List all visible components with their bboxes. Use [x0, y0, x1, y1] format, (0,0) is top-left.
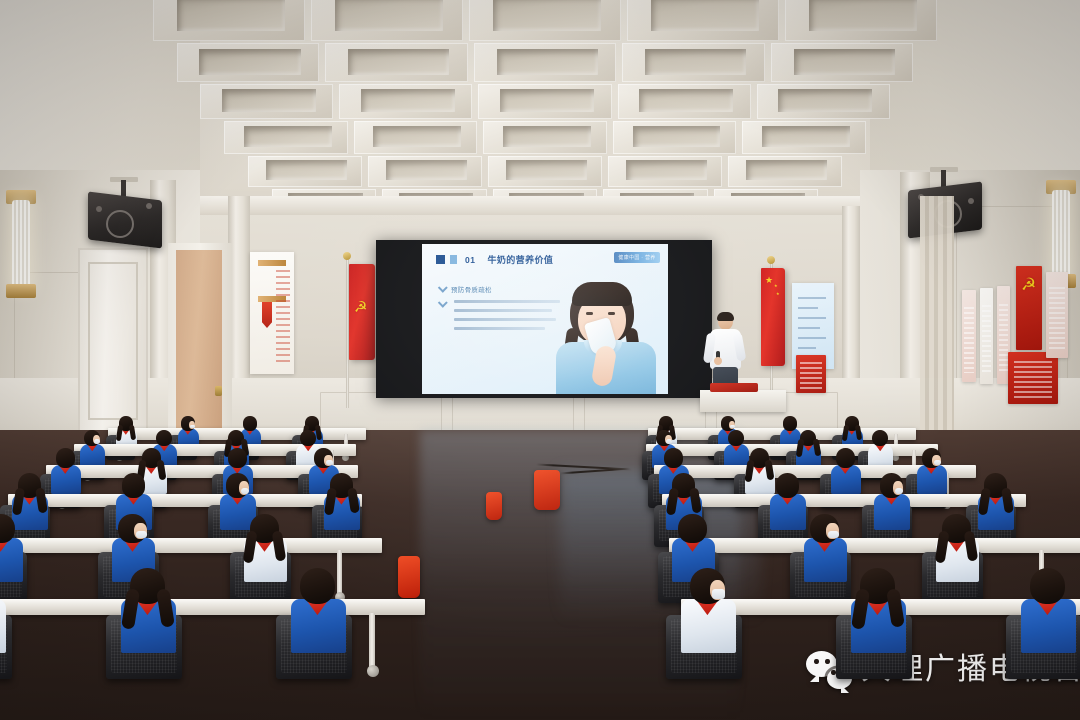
ceiling-coffer — [771, 43, 914, 82]
student — [323, 473, 365, 528]
student-desk — [0, 538, 382, 553]
ceiling-coffer — [622, 43, 765, 82]
ceiling-coffer — [728, 156, 842, 187]
speaker-left — [88, 186, 162, 244]
ceiling-coffer — [478, 84, 611, 119]
face-mask — [895, 488, 904, 494]
student-head — [664, 448, 683, 468]
flagpole-finial-left — [343, 252, 351, 260]
honor-banner-left — [250, 252, 294, 374]
face-mask — [94, 439, 100, 443]
student — [1019, 568, 1080, 651]
red-backpack — [534, 470, 560, 510]
slide-brand-badge: 健康中国 · 营养 — [614, 252, 660, 263]
student — [867, 430, 896, 468]
ceiling-coffer — [627, 0, 779, 41]
face-mask — [828, 531, 838, 539]
presenter-hair — [717, 312, 734, 321]
slide-title: 牛奶的营养价值 — [487, 253, 553, 266]
ceiling-coffer — [469, 0, 621, 41]
face-mask — [934, 460, 941, 465]
presentation-table — [700, 390, 786, 412]
face-mask — [241, 488, 250, 494]
student — [802, 514, 853, 581]
ceiling-coffer — [742, 121, 866, 153]
student-head — [728, 430, 744, 447]
face-mask — [666, 439, 672, 443]
ceiling-coffer — [224, 121, 348, 153]
student-head — [300, 430, 316, 447]
student-head — [776, 473, 799, 497]
student-head — [836, 448, 855, 468]
panel-door-left[interactable] — [78, 248, 148, 438]
flag-star-icon: ★ — [776, 292, 780, 296]
student — [50, 448, 85, 493]
flag-star-icon: ★ — [774, 284, 778, 288]
hammer-sickle-icon: ☭ — [354, 300, 367, 315]
student-head — [122, 473, 145, 497]
ceiling-coffer — [200, 84, 333, 119]
student — [679, 568, 743, 651]
ceiling-coffer — [613, 121, 737, 153]
desk-leg — [369, 613, 376, 667]
coffered-ceiling-grid — [150, 0, 940, 220]
presentation-slide: 01 牛奶的营养价值 健康中国 · 营养 预防骨质疏松 — [422, 244, 668, 394]
wall-poster-2 — [980, 288, 993, 384]
student — [849, 568, 913, 651]
face-mask — [712, 589, 725, 598]
ceiling-coffer — [488, 156, 602, 187]
wall-poster-party-emblem: ☭ — [1016, 266, 1042, 350]
ceiling-coffer — [354, 121, 478, 153]
slide-photo-girl-drinking-milk — [542, 276, 668, 394]
wooden-door[interactable] — [176, 250, 222, 432]
face-mask — [136, 531, 146, 539]
ceiling-coffer — [177, 43, 320, 82]
window-curtain — [920, 196, 954, 436]
presenter-hand — [714, 357, 722, 365]
face-mask — [730, 425, 735, 429]
slide-brand-text: 健康中国 · 营养 — [614, 252, 660, 263]
student — [0, 568, 13, 651]
student — [934, 514, 985, 581]
student-head — [1030, 568, 1065, 605]
ceiling-coffer — [474, 43, 617, 82]
student-head — [783, 416, 797, 430]
student-head — [243, 416, 257, 430]
ceiling-coffer — [248, 156, 362, 187]
student-head — [56, 448, 75, 468]
student — [830, 448, 865, 493]
slide-accent-block-light — [450, 255, 457, 264]
projection-screen: 01 牛奶的营养价值 健康中国 · 营养 预防骨质疏松 — [376, 240, 712, 398]
ceiling-coffer — [311, 0, 463, 41]
bullet-icon — [438, 298, 448, 308]
student-desk — [669, 538, 1080, 553]
ceiling-coffer — [325, 43, 468, 82]
student-head — [156, 430, 172, 447]
student-desk — [8, 494, 362, 508]
side-poster-red — [796, 355, 826, 393]
student-desk — [0, 599, 425, 615]
wall-poster-1 — [962, 290, 976, 382]
bullet-icon — [438, 283, 448, 293]
student-head — [678, 514, 707, 543]
student — [289, 568, 353, 651]
student — [119, 568, 183, 651]
student-head — [228, 448, 247, 468]
student — [873, 473, 915, 528]
table-red-items — [710, 383, 758, 392]
student-head — [872, 430, 888, 447]
student — [242, 514, 293, 581]
wainscot-panel-2 — [452, 392, 574, 434]
ceiling-coffer — [483, 121, 607, 153]
flag-star-icon: ★ — [765, 276, 773, 285]
slide-section-number: 01 — [465, 255, 475, 265]
flagpole-finial-right — [767, 256, 775, 264]
wall-sconce-left — [6, 188, 36, 300]
slide-accent-block — [436, 255, 445, 264]
door-knob-icon[interactable] — [215, 386, 222, 396]
face-mask — [326, 460, 333, 465]
student — [795, 430, 824, 468]
ceiling-coffer — [153, 0, 305, 41]
student-head — [300, 568, 335, 605]
red-backpack-2 — [398, 556, 420, 598]
ceiling-coffer — [339, 84, 472, 119]
ceiling-coffer — [785, 0, 937, 41]
slide-title-row: 01 牛奶的营养价值 — [436, 253, 553, 266]
ceiling-coffer — [608, 156, 722, 187]
wall-poster-5 — [1046, 272, 1068, 358]
desk-caster — [367, 665, 379, 677]
ceiling-coffer — [618, 84, 751, 119]
communist-party-flag: ☭ — [349, 264, 375, 360]
ceiling-coffer — [368, 156, 482, 187]
hammer-sickle-icon: ☭ — [1021, 276, 1036, 293]
prc-national-flag: ★ ★ ★ — [761, 268, 785, 366]
wall-poster-4 — [1008, 352, 1058, 404]
classroom-photo: ☭ ☭ ★ ★ ★ 01 牛奶的营养价值 健康中国 · 营养 — [0, 0, 1080, 720]
face-mask — [190, 425, 195, 429]
ceiling-coffer — [757, 84, 890, 119]
student-uniform — [0, 599, 6, 653]
student — [916, 448, 951, 493]
red-backpack-3 — [486, 492, 502, 520]
